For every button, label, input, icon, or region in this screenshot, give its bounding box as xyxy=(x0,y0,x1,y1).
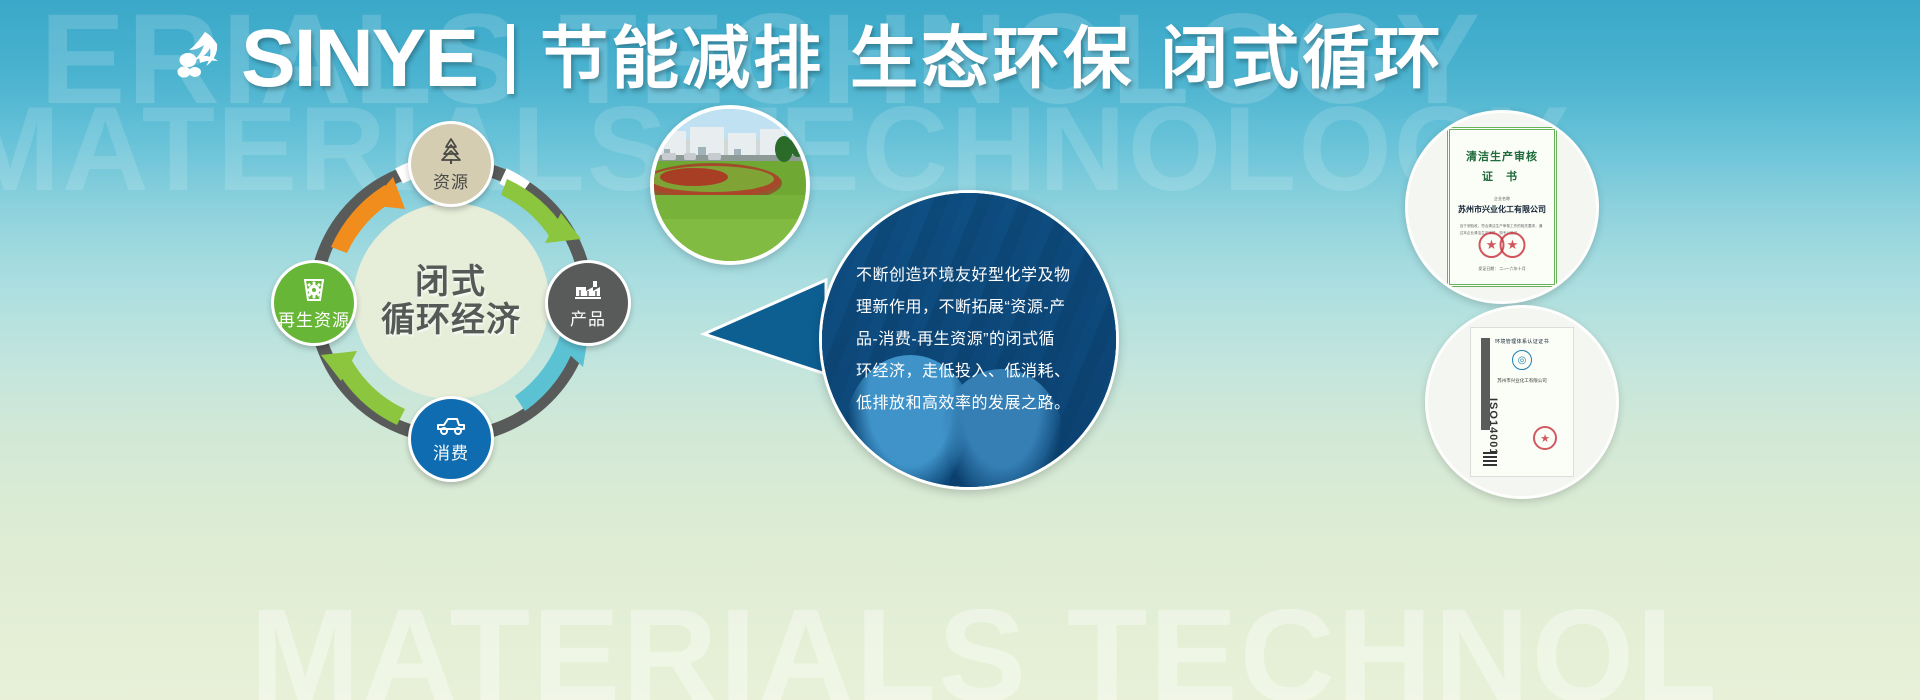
cycle-center-label: 闭式 循环经济 xyxy=(381,263,521,339)
certificate-iso14001[interactable]: 环境管理体系认证证书 ◎ 苏州市兴业化工有限公司 ISO14001 ★ xyxy=(1425,305,1619,499)
headline-part-1: 节能减排 xyxy=(540,21,824,97)
closed-loop-cycle-diagram: 闭式 循环经济 资源 xyxy=(293,143,609,459)
headline-part-3: 闭式循环 xyxy=(1160,21,1444,97)
cycle-center-line1: 闭式 xyxy=(381,263,521,301)
bubble-line-1: 不断创造环境友好型化学及物 xyxy=(856,260,1082,292)
bubble-line-2: 理新作用，不断拓展“资源-产 xyxy=(856,292,1082,324)
cycle-node-product[interactable]: 产品 xyxy=(545,260,631,346)
certificate-company: 苏州市兴业化工有限公司 xyxy=(1497,378,1547,384)
recycle-bin-gear-icon xyxy=(299,276,329,304)
bubble-line-3: 品-消费-再生资源”的闭式循 xyxy=(856,324,1082,356)
bubble-line-4: 环经济，走低投入、低消耗、 xyxy=(856,356,1082,388)
certificate-subtitle: 证 书 xyxy=(1482,168,1522,184)
cycle-center-disc: 闭式 循环经济 xyxy=(353,203,549,399)
header-bar: SINYE 节能减排生态环保闭式循环 xyxy=(0,0,1920,118)
cycle-node-recycle-label: 再生资源 xyxy=(278,306,350,331)
car-icon xyxy=(435,415,467,437)
certificate-title: 清洁生产审核 xyxy=(1466,148,1538,164)
watermark-text-bottom: MATERIALS TECHNOL xyxy=(250,580,1719,700)
bubble-line-5: 低排放和高效率的发展之路。 xyxy=(856,388,1082,420)
certificate-title: 环境管理体系认证证书 xyxy=(1495,338,1549,345)
cycle-node-resource[interactable]: 资源 xyxy=(408,121,494,207)
certificate-company-label: 企业名称 xyxy=(1494,196,1510,202)
qr-code-icon xyxy=(1483,452,1497,466)
certificate-paper: 环境管理体系认证证书 ◎ 苏州市兴业化工有限公司 ISO14001 ★ xyxy=(1470,327,1574,477)
logo-divider xyxy=(507,24,514,94)
cycle-node-resource-label: 资源 xyxy=(433,168,469,193)
certification-logo-icon: ◎ xyxy=(1512,350,1532,370)
tree-icon xyxy=(436,136,466,166)
headline-part-2: 生态环保 xyxy=(850,21,1134,97)
banner-root: ERIALS TECHNOLOGY MATERIALS TECHNOLOGY M… xyxy=(0,0,1920,700)
headline-slogan: 节能减排生态环保闭式循环 xyxy=(540,25,1444,93)
certificate-clean-production[interactable]: 清洁生产审核 证 书 企业名称 苏州市兴业化工有限公司 自于测验收，符合清洁生产… xyxy=(1405,110,1599,304)
cycle-center-line2: 循环经济 xyxy=(381,301,521,339)
speech-bubble-text: 不断创造环境友好型化学及物 理新作用，不断拓展“资源-产 品-消费-再生资源”的… xyxy=(822,193,1116,487)
cycle-node-consume[interactable]: 消费 xyxy=(408,396,494,482)
red-seal-icon: ★ xyxy=(1500,232,1526,258)
speech-bubble-group: 不断创造环境友好型化学及物 理新作用，不断拓展“资源-产 品-消费-再生资源”的… xyxy=(700,190,1120,520)
certificate-standard: ISO14001 xyxy=(1487,398,1499,456)
factory-icon xyxy=(573,277,603,303)
cycle-node-product-label: 产品 xyxy=(570,305,606,330)
red-seal-icon: ★ xyxy=(1533,426,1557,450)
certificate-date: 发证日期： 二○一六年十月 xyxy=(1478,266,1526,272)
speech-bubble: 不断创造环境友好型化学及物 理新作用，不断拓展“资源-产 品-消费-再生资源”的… xyxy=(819,190,1119,490)
logo-wordmark: SINYE xyxy=(241,18,477,100)
cycle-node-consume-label: 消费 xyxy=(433,439,469,464)
leaf-splash-icon xyxy=(175,26,237,88)
certificate-paper: 清洁生产审核 证 书 企业名称 苏州市兴业化工有限公司 自于测验收，符合清洁生产… xyxy=(1447,127,1557,287)
certificate-company: 苏州市兴业化工有限公司 xyxy=(1458,204,1546,215)
certificate-stamps: ★ ★ xyxy=(1479,232,1526,258)
cycle-node-recycle[interactable]: 再生资源 xyxy=(271,260,357,346)
